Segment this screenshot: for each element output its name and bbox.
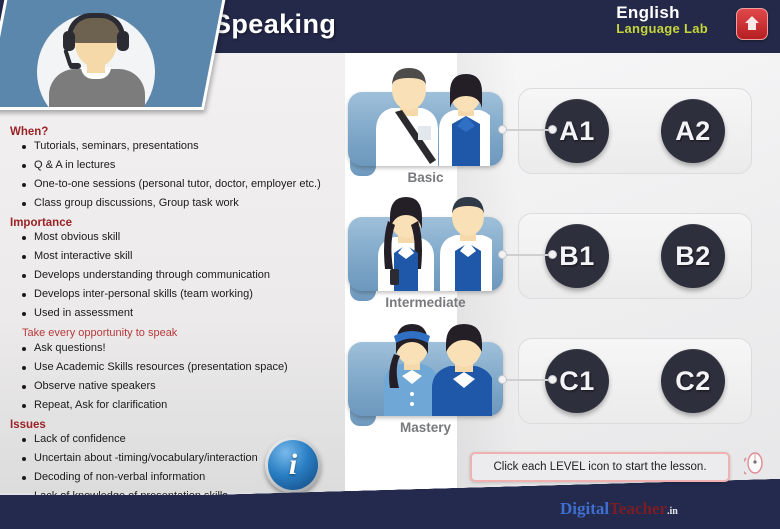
level-row-mastery: Mastery xyxy=(348,342,568,442)
brand-logo: English Language Lab xyxy=(616,4,708,35)
connector-line xyxy=(504,129,554,131)
list-item: Used in assessment xyxy=(8,308,338,319)
list-item: Class group discussions, Group task work xyxy=(8,198,338,209)
level-button-a2[interactable]: A2 xyxy=(661,99,725,163)
level-button-c2[interactable]: C2 xyxy=(661,349,725,413)
list-item: Q & A in lectures xyxy=(8,160,338,171)
list-item: Most interactive skill xyxy=(8,251,338,262)
level-card-label: Intermediate xyxy=(348,295,503,310)
level-row-basic: Basic xyxy=(348,92,568,192)
connector xyxy=(498,250,560,260)
level-button-label: A2 xyxy=(675,116,711,147)
connector-line xyxy=(504,254,554,256)
section-importance: Importance Most obvious skill Most inter… xyxy=(8,217,338,339)
level-button-b2[interactable]: B2 xyxy=(661,224,725,288)
footer-logo-suffix: .in xyxy=(667,506,678,517)
hint-tooltip: Click each LEVEL icon to start the lesso… xyxy=(470,452,730,482)
headset-mic-icon xyxy=(69,63,81,69)
list-item: Most obvious skill xyxy=(8,232,338,243)
connector-dot xyxy=(498,125,507,134)
list-item: One-to-one sessions (personal tutor, doc… xyxy=(8,179,338,190)
list-item: Tutorials, seminars, presentations xyxy=(8,141,338,152)
list-item: Ask questions! xyxy=(8,343,338,354)
level-row-intermediate: Intermediate xyxy=(348,217,568,317)
level-card-basic[interactable]: Basic xyxy=(348,92,503,166)
connector xyxy=(498,125,560,135)
section-list: Ask questions! Use Academic Skills resou… xyxy=(8,343,338,411)
section-note: Take every opportunity to speak xyxy=(22,327,338,339)
headset-earcup-left-icon xyxy=(63,31,75,51)
hint-text: Click each LEVEL icon to start the lesso… xyxy=(493,461,706,473)
connector-dot xyxy=(548,375,557,384)
section-heading: When? xyxy=(10,126,338,138)
brand-line-2: Language Lab xyxy=(616,22,708,36)
page-title: Speaking xyxy=(213,9,336,40)
section-list: Tutorials, seminars, presentations Q & A… xyxy=(8,141,338,209)
list-item: Use Academic Skills resources (presentat… xyxy=(8,362,338,373)
section-advice: Ask questions! Use Academic Skills resou… xyxy=(8,343,338,411)
footer-logo-part1: Digital xyxy=(560,499,609,518)
connector-dot xyxy=(548,250,557,259)
level-button-label: B2 xyxy=(675,241,711,272)
two-students-intermediate-icon xyxy=(360,189,492,291)
home-icon xyxy=(743,14,761,32)
connector-line xyxy=(504,379,554,381)
level-card-label: Basic xyxy=(348,170,503,185)
avatar-illustration xyxy=(0,0,212,107)
level-card-label: Mastery xyxy=(348,420,503,435)
level-button-label: C2 xyxy=(675,366,711,397)
footer-bar: DigitalTeacher.in xyxy=(0,495,780,529)
footer-logo-part2: Teacher xyxy=(609,499,667,518)
section-heading: Issues xyxy=(10,419,338,431)
lesson-page: Speaking English Language Lab xyxy=(0,0,780,529)
section-heading: Importance xyxy=(10,217,338,229)
level-card-mastery[interactable]: Mastery xyxy=(348,342,503,416)
list-item: Develops inter-personal skills (team wor… xyxy=(8,289,338,300)
mouse-icon xyxy=(744,450,764,476)
avatar xyxy=(0,0,226,110)
two-students-mastery-icon xyxy=(366,314,492,416)
list-item: Repeat, Ask for clarification xyxy=(8,400,338,411)
footer-logo: DigitalTeacher.in xyxy=(560,499,678,519)
brand-line-1: English xyxy=(616,4,708,22)
two-students-basic-icon xyxy=(362,64,490,166)
home-button[interactable] xyxy=(736,8,768,40)
headset-earcup-right-icon xyxy=(117,31,129,51)
section-list: Most obvious skill Most interactive skil… xyxy=(8,232,338,319)
connector-dot xyxy=(498,375,507,384)
connector-dot xyxy=(498,250,507,259)
list-item: Develops understanding through communica… xyxy=(8,270,338,281)
connector xyxy=(498,375,560,385)
level-card-intermediate[interactable]: Intermediate xyxy=(348,217,503,291)
section-when: When? Tutorials, seminars, presentations… xyxy=(8,126,338,209)
connector-dot xyxy=(548,125,557,134)
list-item: Observe native speakers xyxy=(8,381,338,392)
